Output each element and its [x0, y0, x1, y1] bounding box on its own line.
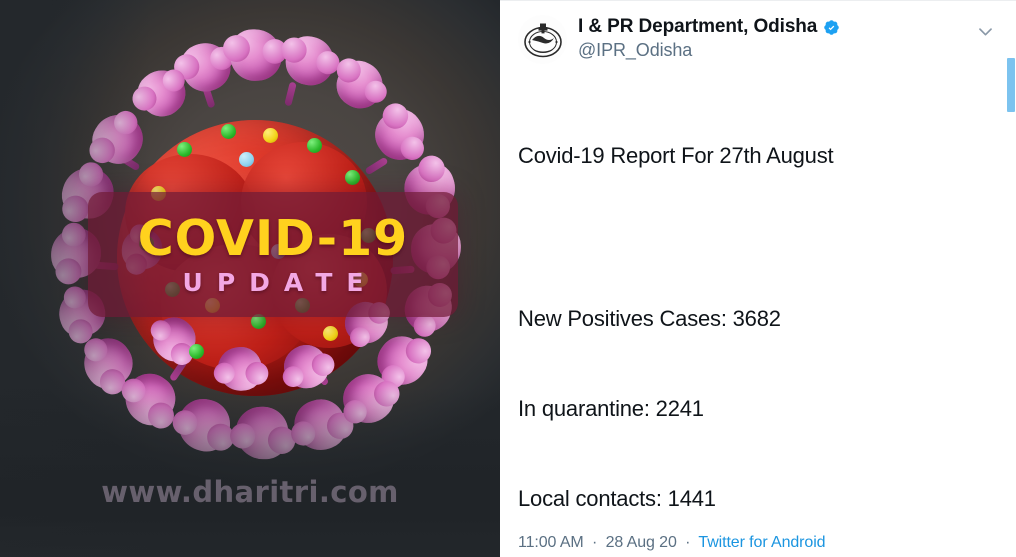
virus-surface-dot — [189, 344, 204, 359]
tweet-handle[interactable]: @IPR_Odisha — [578, 40, 972, 61]
text-spacer — [518, 231, 998, 244]
virus-spike — [329, 54, 392, 117]
virus-surface-dot — [345, 170, 360, 185]
tweet-panel: I & PR Department, Odisha @IPR_Odisha — [500, 0, 1016, 557]
image-bottom-shade — [0, 387, 500, 557]
tweet-date: 28 Aug 20 — [606, 534, 677, 551]
scrollbar-thumb[interactable] — [1007, 58, 1015, 112]
tweet-display-name[interactable]: I & PR Department, Odisha — [578, 16, 817, 38]
footer-separator: · — [592, 534, 597, 551]
tweet-time: 11:00 AM — [518, 534, 584, 551]
virus-surface-dot — [177, 142, 192, 157]
tweet-stat-line: Local contacts: 1441 — [518, 484, 998, 514]
virus-spike-stalk — [284, 82, 297, 107]
chevron-down-icon[interactable] — [972, 18, 998, 44]
tweet-text: Covid-19 Report For 27th August New Posi… — [518, 81, 998, 557]
covid-banner-title: COVID-19 — [138, 214, 409, 263]
scrollbar-track[interactable] — [1007, 1, 1016, 557]
tweet-footer: 11:00 AM · 28 Aug 20 · Twitter for Andro… — [518, 534, 825, 552]
footer-separator: · — [685, 534, 690, 551]
verified-badge-icon — [823, 19, 840, 36]
covid-update-banner: COVID-19 UPDATE — [88, 192, 458, 317]
screenshot-root: COVID-19 UPDATE www.dharitri.com — [0, 0, 1016, 557]
covid-banner-subtitle: UPDATE — [169, 270, 378, 295]
tweet-report-title: Covid-19 Report For 27th August — [518, 141, 998, 171]
tweet-stat-line: In quarantine: 2241 — [518, 394, 998, 424]
tweet-source[interactable]: Twitter for Android — [698, 534, 825, 551]
virus-surface-dot — [323, 326, 338, 341]
virus-surface-dot — [307, 138, 322, 153]
odisha-government-emblem-avatar[interactable] — [518, 15, 567, 64]
virus-spike-stalk — [364, 157, 388, 176]
tweet-identity: I & PR Department, Odisha @IPR_Odisha — [578, 15, 972, 61]
tweet-name-row: I & PR Department, Odisha — [578, 16, 972, 38]
virus-surface-dot — [221, 124, 236, 139]
image-watermark: www.dharitri.com — [0, 475, 500, 509]
virus-surface-dot — [239, 152, 254, 167]
tweet-header: I & PR Department, Odisha @IPR_Odisha — [518, 15, 998, 64]
virus-surface-dot — [263, 128, 278, 143]
covid-image-panel: COVID-19 UPDATE www.dharitri.com — [0, 0, 500, 557]
tweet-stat-line: New Positives Cases: 3682 — [518, 304, 998, 334]
